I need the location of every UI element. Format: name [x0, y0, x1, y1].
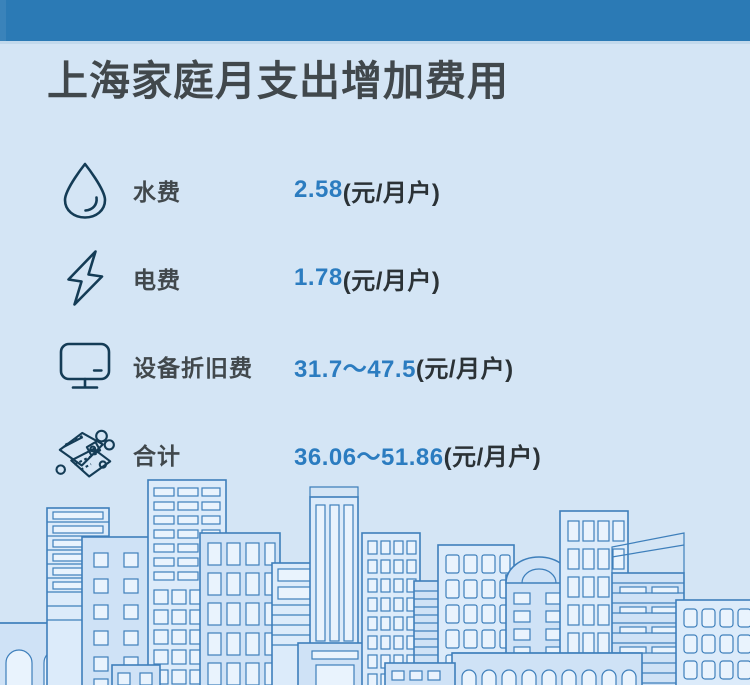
city-skyline-illustration: .b { fill:#dcebfa; stroke:#3e7fbb; strok… — [0, 475, 750, 685]
top-accent-bar-left-edge — [0, 0, 6, 41]
infographic-poster: 上海家庭月支出增加费用 水费 2.58(元/月户) 电费 — [0, 0, 750, 685]
list-item-number: 31.7～47.5 — [294, 349, 416, 384]
list-item-value: 1.78(元/月户) — [294, 238, 440, 318]
lightning-bolt-icon — [52, 238, 118, 318]
list-item-unit: (元/月户) — [343, 173, 441, 208]
list-item-value: 31.7～47.5(元/月户) — [294, 326, 514, 406]
list-item-unit: (元/月户) — [416, 349, 514, 384]
list-item-number: 2.58 — [294, 176, 343, 204]
cost-list: 水费 2.58(元/月户) 电费 1.78(元/月户) — [0, 150, 750, 502]
list-item-unit: (元/月户) — [444, 437, 542, 472]
top-accent-bar — [0, 0, 750, 41]
list-item-label: 电费 — [133, 238, 181, 318]
list-item-value: 2.58(元/月户) — [294, 150, 440, 230]
page-title: 上海家庭月支出增加费用 — [47, 58, 509, 105]
list-item: 设备折旧费 31.7～47.5(元/月户) — [0, 326, 750, 414]
monitor-icon — [52, 326, 118, 406]
list-item-unit: (元/月户) — [343, 261, 441, 296]
list-item: 水费 2.58(元/月户) — [0, 150, 750, 238]
list-item-label: 水费 — [133, 150, 181, 230]
list-item-number: 1.78 — [294, 264, 343, 292]
top-accent-bar-shadow — [0, 41, 750, 44]
list-item: 电费 1.78(元/月户) — [0, 238, 750, 326]
list-item-number: 36.06～51.86 — [294, 437, 444, 472]
list-item-label: 设备折旧费 — [133, 326, 253, 406]
water-drop-icon — [52, 150, 118, 230]
